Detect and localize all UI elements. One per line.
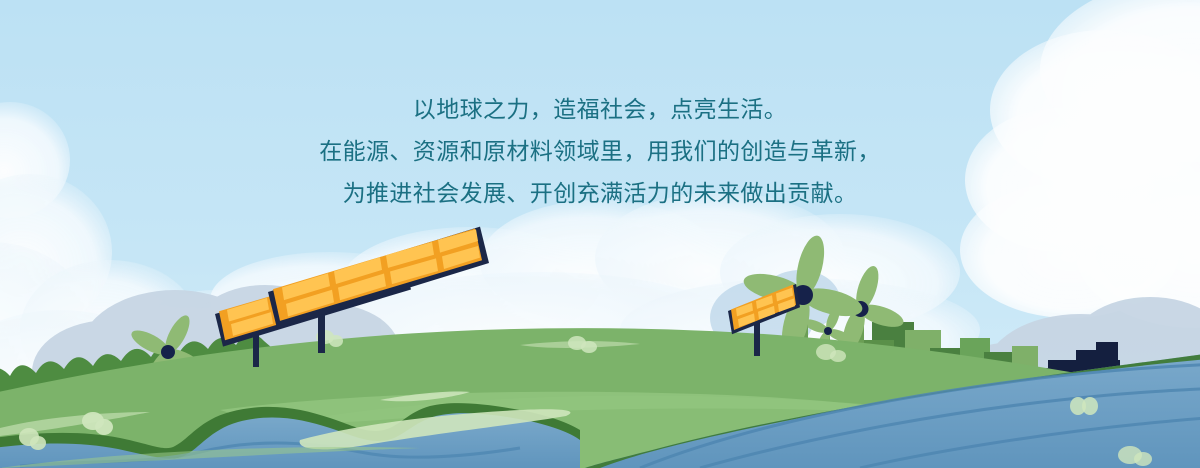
eco-hero-banner: 以地球之力，造福社会，点亮生活。 在能源、资源和原材料领域里，用我们的创造与革新… bbox=[0, 0, 1200, 468]
landscape-illustration bbox=[0, 0, 1200, 468]
